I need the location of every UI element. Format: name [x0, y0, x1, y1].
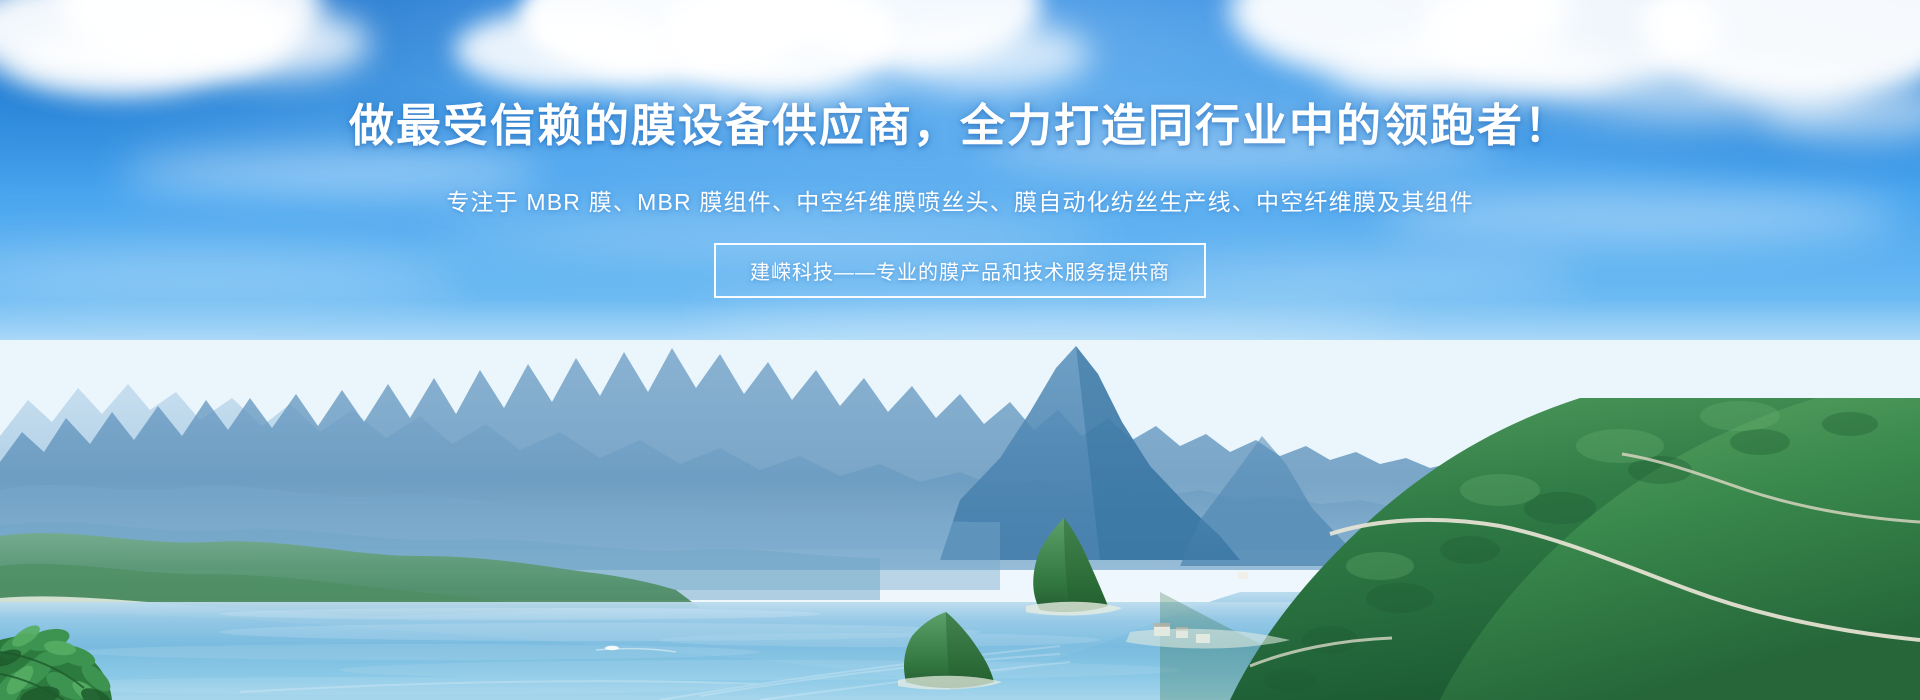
landscape-layer	[0, 340, 1920, 700]
landscape-illustration	[0, 340, 1920, 700]
page-title: 做最受信赖的膜设备供应商，全力打造同行业中的领跑者！	[0, 96, 1920, 155]
hero-banner: 做最受信赖的膜设备供应商，全力打造同行业中的领跑者！ 专注于 MBR 膜、MBR…	[0, 0, 1920, 700]
tagline-wrapper: 建嵘科技——专业的膜产品和技术服务提供商	[0, 243, 1920, 298]
hero-subtitle: 专注于 MBR 膜、MBR 膜组件、中空纤维膜喷丝头、膜自动化纺丝生产线、中空纤…	[0, 183, 1920, 217]
hero-copy: 做最受信赖的膜设备供应商，全力打造同行业中的领跑者！ 专注于 MBR 膜、MBR…	[0, 96, 1920, 298]
tagline-badge: 建嵘科技——专业的膜产品和技术服务提供商	[714, 243, 1206, 298]
